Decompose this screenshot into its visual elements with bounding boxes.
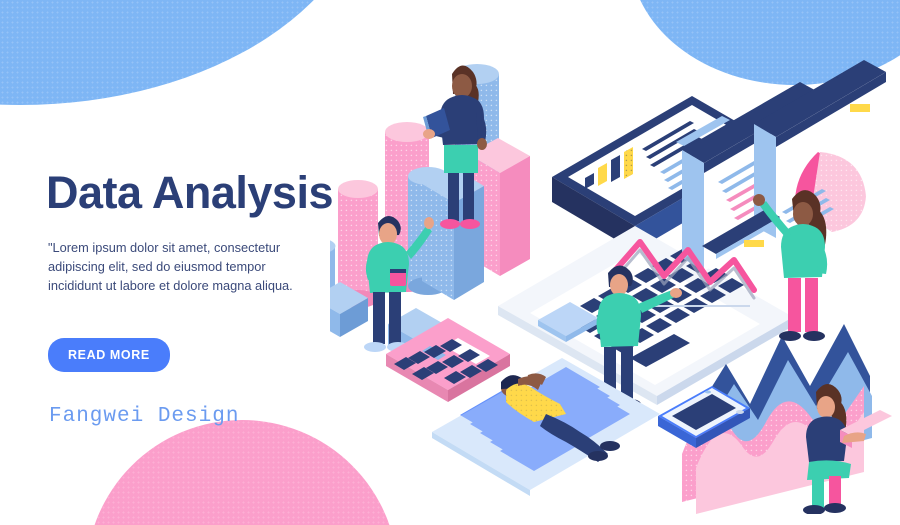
dot-texture: [0, 0, 370, 105]
read-more-button[interactable]: READ MORE: [48, 338, 170, 372]
hero-copy-block: Data Analysis "Lorem ipsum dolor sit ame…: [46, 170, 376, 428]
brand-signature: Fangwei Design: [49, 405, 376, 428]
blue-arc-top-left-shape: [0, 0, 370, 105]
hero-illustration: [330, 24, 900, 514]
hero-paragraph: "Lorem ipsum dolor sit amet, consectetur…: [48, 238, 306, 296]
page-title: Data Analysis: [46, 170, 376, 215]
landing-page-canvas: Data Analysis "Lorem ipsum dolor sit ame…: [0, 0, 900, 525]
